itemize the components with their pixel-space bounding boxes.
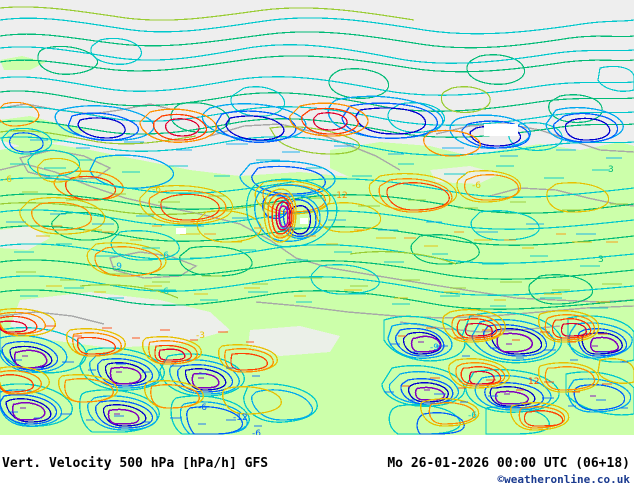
vertical-velocity-map[interactable]: -9 -6 -6 -12 -6 -6 -6 -12 -6 -9 -6 -3 3 … (0, 0, 634, 435)
contour-label: -6 (468, 411, 477, 421)
contour-label: -9 (430, 343, 439, 353)
contour-label: 12 (528, 377, 539, 387)
contour-label: -6 (152, 185, 161, 195)
contour-label: -6 (160, 287, 169, 297)
map-panel[interactable]: -9 -6 -6 -12 -6 -6 -6 -12 -6 -9 -6 -3 3 … (0, 0, 634, 435)
contour-label: -12 (333, 191, 348, 201)
contour-label: -6 (3, 175, 12, 185)
parameter-title: Vert. Velocity 500 hPa [hPa/h] GFS (2, 456, 268, 471)
contour-label: -6 (472, 181, 481, 191)
contour-label: 3 (598, 255, 604, 265)
contour-label: -12 (233, 413, 248, 423)
weather-map-page: -9 -6 -6 -12 -6 -6 -6 -12 -6 -9 -6 -3 3 … (0, 0, 634, 490)
contour-label: -3 (196, 331, 205, 341)
copyright-link[interactable]: ©weatheronline.co.uk (498, 473, 630, 486)
run-datetime: Mo 26-01-2026 00:00 UTC (06+18) (387, 456, 630, 471)
footer-bar: Vert. Velocity 500 hPa [hPa/h] GFS Mo 26… (0, 435, 634, 490)
contour-label: 3 (608, 165, 614, 175)
contour-label: -9 (113, 262, 122, 272)
contour-label: -6 (198, 403, 207, 413)
contour-label: -6 (160, 251, 169, 261)
